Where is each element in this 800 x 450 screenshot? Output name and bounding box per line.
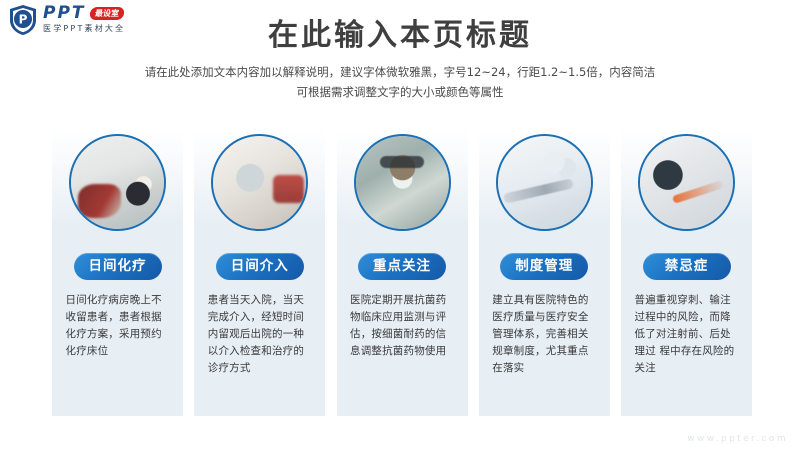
card-pill-label[interactable]: 日间化疗: [74, 253, 162, 280]
card-body-text: 医院定期开展抗菌药物临床应用监测与评估，按细菌耐药的信息调整抗菌药物使用: [350, 292, 454, 360]
card-photo: [638, 134, 735, 231]
subtitle-line-2: 可根据需求调整文字的大小或颜色等属性: [0, 82, 800, 102]
card-pill-label[interactable]: 禁忌症: [643, 253, 731, 280]
card-item[interactable]: 重点关注 医院定期开展抗菌药物临床应用监测与评估，按细菌耐药的信息调整抗菌药物使…: [337, 128, 468, 416]
card-body-text: 日间化疗病房晚上不收留患者，患者根据化疗方案，采用预约化疗床位: [66, 292, 170, 360]
card-item[interactable]: 日间介入 患者当天入院，当天完成介入，经短时间内留观后出院的一种以介入检查和治疗…: [194, 128, 325, 416]
card-pill-label[interactable]: 日间介入: [216, 253, 304, 280]
card-grid: 日间化疗 日间化疗病房晚上不收留患者，患者根据化疗方案，采用预约化疗床位 日间介…: [52, 128, 752, 416]
page-subtitle: 请在此处添加文本内容加以解释说明，建议字体微软雅黑，字号12~24，行距1.2~…: [0, 62, 800, 102]
page-title: 在此输入本页标题: [0, 18, 800, 54]
card-photo: [354, 134, 451, 231]
site-watermark: www.ppter.com: [687, 434, 788, 444]
subtitle-line-1: 请在此处添加文本内容加以解释说明，建议字体微软雅黑，字号12~24，行距1.2~…: [0, 62, 800, 82]
card-photo: [69, 134, 166, 231]
card-pill-label[interactable]: 制度管理: [500, 253, 588, 280]
card-body-text: 建立具有医院特色的医疗质量与医疗安全管理体系，完善相关规章制度，尤其重点在落实: [492, 292, 596, 377]
card-photo: [211, 134, 308, 231]
card-pill-label[interactable]: 重点关注: [358, 253, 446, 280]
card-photo: [496, 134, 593, 231]
card-item[interactable]: 禁忌症 普遍重视穿刺、输注过程中的风险，而降低了对注射前、后处理过 程中存在风险…: [621, 128, 752, 416]
card-body-text: 患者当天入院，当天完成介入，经短时间内留观后出院的一种以介入检查和治疗的诊疗方式: [208, 292, 312, 377]
card-item[interactable]: 日间化疗 日间化疗病房晚上不收留患者，患者根据化疗方案，采用预约化疗床位: [52, 128, 183, 416]
card-body-text: 普遍重视穿刺、输注过程中的风险，而降低了对注射前、后处理过 程中存在风险的关注: [635, 292, 739, 377]
card-item[interactable]: 制度管理 建立具有医院特色的医疗质量与医疗安全管理体系，完善相关规章制度，尤其重…: [479, 128, 610, 416]
